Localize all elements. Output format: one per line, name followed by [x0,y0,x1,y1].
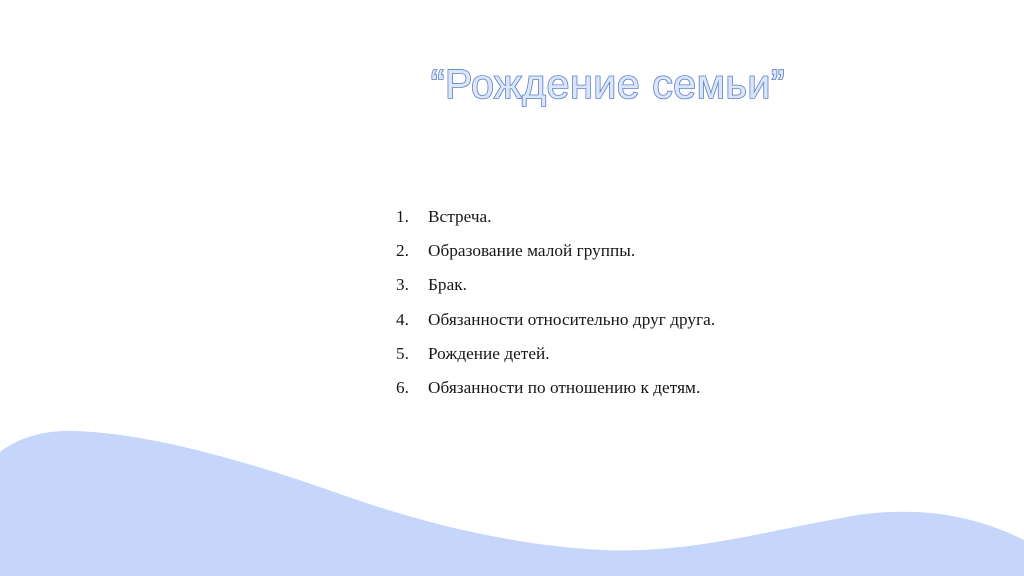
list-item: 4. Обязанности относительно друг друга. [396,311,956,328]
list-item: 5. Рождение детей. [396,345,956,362]
list-item-label: Встреча. [428,208,956,225]
slide-title-block: “Рождение семьи” [0,62,1024,106]
list-item: 2. Образование малой группы. [396,242,956,259]
list-item-label: Брак. [428,276,956,293]
list-item-label: Обязанности относительно друг друга. [428,311,956,328]
list-item: 1. Встреча. [396,208,956,225]
list-item-number: 3. [396,276,428,293]
list-item-number: 5. [396,345,428,362]
bottom-wave-decoration [0,416,1024,576]
list-item-number: 6. [396,379,428,396]
list-item-label: Обязанности по отношению к детям. [428,379,956,396]
list-item-label: Образование малой группы. [428,242,956,259]
presentation-slide: “Рождение семьи” 1. Встреча. 2. Образова… [0,0,1024,576]
list-item-number: 1. [396,208,428,225]
list-item-number: 2. [396,242,428,259]
list-item-number: 4. [396,311,428,328]
list-item-label: Рождение детей. [428,345,956,362]
wave-path [0,431,1024,576]
page-title: “Рождение семьи” [431,62,785,106]
list-item: 3. Брак. [396,276,956,293]
wave-shape-svg [0,416,1024,576]
slide-content-list: 1. Встреча. 2. Образование малой группы.… [396,208,956,396]
list-item: 6. Обязанности по отношению к детям. [396,379,956,396]
